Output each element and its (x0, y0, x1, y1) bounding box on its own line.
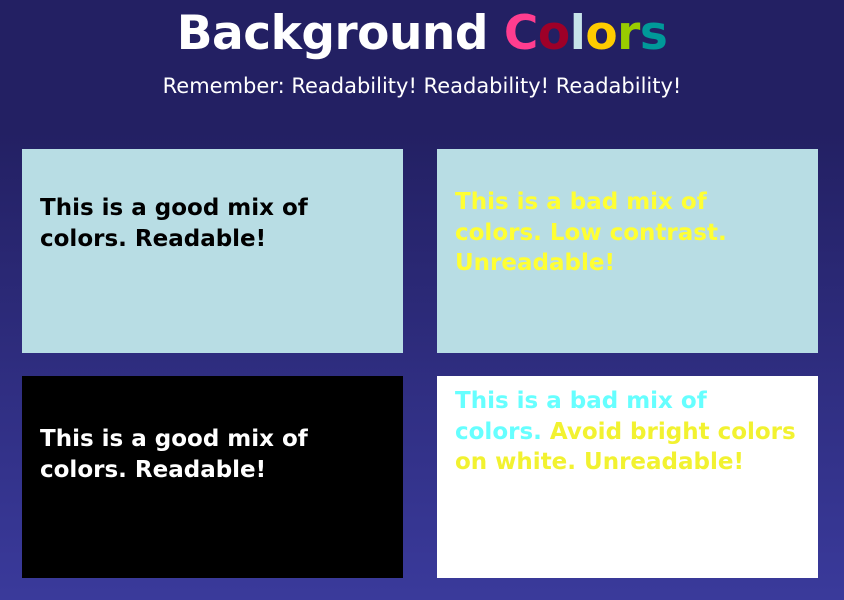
slide-header: Background Colors Remember: Readability!… (0, 0, 844, 98)
title-letter-s: s (640, 6, 667, 61)
title-letter-o2: o (585, 6, 617, 61)
page-title-plain: Background (177, 6, 504, 61)
title-letter-l: l (570, 6, 586, 61)
card-bad-mix-low-contrast: This is a bad mix of colors. Low contras… (437, 149, 818, 353)
card-good-mix-light: This is a good mix of colors. Readable! (22, 149, 403, 353)
title-letter-o1: o (538, 6, 570, 61)
card-good-mix-black: This is a good mix of colors. Readable! (22, 376, 403, 578)
card-bad-mix-low-contrast-text: This is a bad mix of colors. Low contras… (455, 187, 800, 279)
card-bad-mix-bright-on-white: This is a bad mix of colors. Avoid brigh… (437, 376, 818, 578)
title-letter-c: C (504, 6, 538, 61)
card-good-mix-light-text: This is a good mix of colors. Readable! (40, 193, 385, 254)
page-title: Background Colors (0, 8, 844, 61)
page-subtitle: Remember: Readability! Readability! Read… (0, 75, 844, 98)
page-title-colored: Colors (504, 6, 667, 61)
example-card-grid: This is a good mix of colors. Readable! … (22, 149, 822, 579)
title-letter-r: r (617, 6, 640, 61)
card-bad-mix-bright-on-white-text: This is a bad mix of colors. Avoid brigh… (455, 386, 800, 478)
slide-root: Background Colors Remember: Readability!… (0, 0, 844, 600)
card-good-mix-black-text: This is a good mix of colors. Readable! (40, 424, 385, 485)
